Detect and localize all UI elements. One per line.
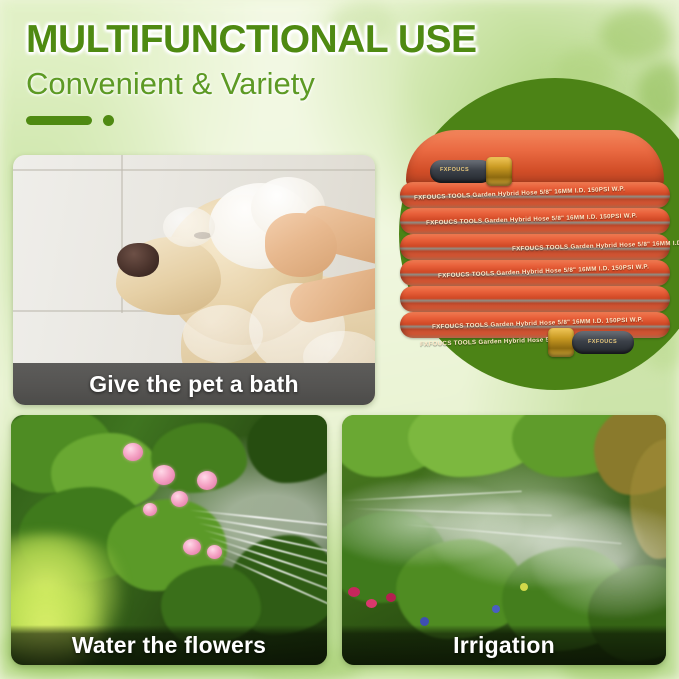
hose-coil-loop xyxy=(400,182,670,208)
pink-rose xyxy=(153,465,175,485)
pink-rose xyxy=(123,443,143,461)
fitting-brand-text: FXFOUCS xyxy=(440,167,469,173)
garden-flower xyxy=(366,599,377,608)
product-image-hose: FXFOUCS TOOLS Garden Hybrid Hose 5/8" 16… xyxy=(400,130,670,355)
person-hand xyxy=(265,213,337,277)
fitting-brass-coupler xyxy=(548,328,574,357)
caption-irrigation: Irrigation xyxy=(342,625,666,665)
panel-pet-bath: Give the pet a bath xyxy=(13,155,375,405)
decorative-rule xyxy=(26,115,477,126)
rule-dot-icon xyxy=(103,115,114,126)
background-leaf-shape xyxy=(600,8,670,60)
garden-flower xyxy=(520,583,528,591)
tile-grout-line xyxy=(13,169,375,171)
caption-pet-bath: Give the pet a bath xyxy=(13,363,375,405)
hose-coil-loop xyxy=(400,234,670,260)
pink-rose xyxy=(183,539,201,555)
garden-flower xyxy=(492,605,500,613)
garden-flower xyxy=(386,593,396,602)
pink-rose xyxy=(143,503,157,516)
caption-water-flowers: Water the flowers xyxy=(11,625,327,665)
shampoo-suds xyxy=(163,207,215,247)
hose-coil-loop xyxy=(400,260,670,286)
rule-bar-icon xyxy=(26,116,92,125)
fitting-brass-coupler xyxy=(486,157,512,186)
header-block: MULTIFUNCTIONAL USE Convenient & Variety xyxy=(26,20,477,126)
foliage-blob xyxy=(247,415,327,483)
panel-water-flowers: Water the flowers xyxy=(11,415,327,665)
pink-rose xyxy=(197,471,217,490)
page-subtitle: Convenient & Variety xyxy=(26,67,477,101)
pink-rose xyxy=(171,491,188,507)
hose-coil-loop xyxy=(400,208,670,234)
panel-irrigation: Irrigation xyxy=(342,415,666,665)
dog-nose xyxy=(117,243,159,277)
page-title: MULTIFUNCTIONAL USE xyxy=(26,20,477,61)
product-feature-poster: MULTIFUNCTIONAL USE Convenient & Variety… xyxy=(0,0,679,679)
fitting-brand-text: FXFOUCS xyxy=(588,339,617,345)
hose-coil-loop xyxy=(400,286,670,312)
garden-flower xyxy=(348,587,360,597)
